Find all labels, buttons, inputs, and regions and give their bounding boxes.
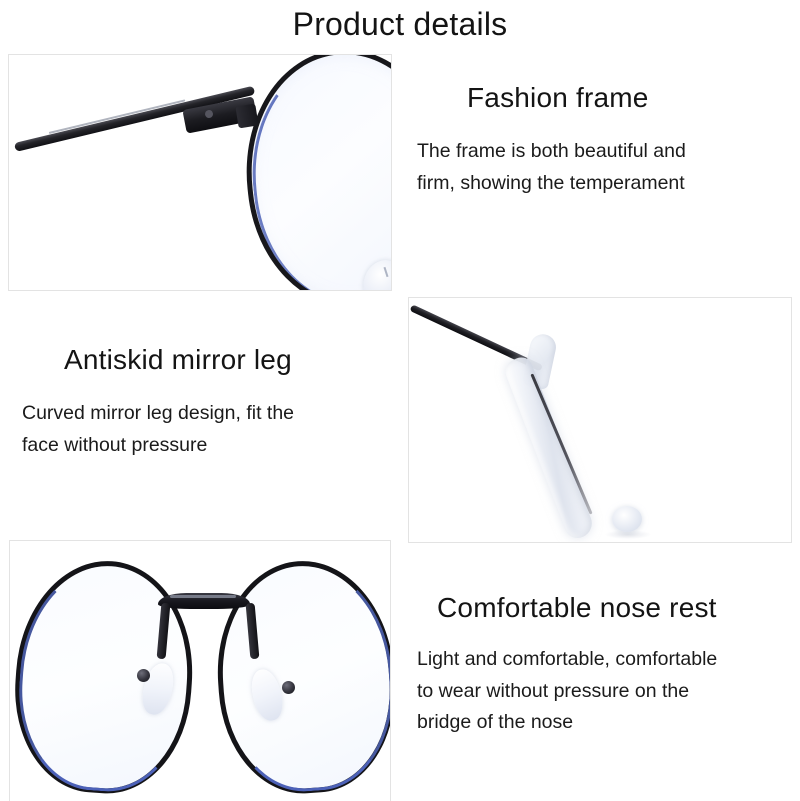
section-comfortable-nose-rest: Comfortable nose rest Light and comforta… [417, 592, 793, 739]
photo-canvas-nose-bridge [10, 541, 390, 801]
temple-highlight [49, 99, 186, 134]
nose-bridge-pads-photo [9, 540, 391, 801]
body-line: The frame is both beautiful and [417, 136, 787, 168]
temple-silicone-tip [502, 353, 596, 542]
glasses-frame-hinge-photo [8, 54, 392, 291]
section-antiskid-mirror-leg: Antiskid mirror leg Curved mirror leg de… [22, 344, 400, 461]
body-line: to wear without pressure on the [417, 676, 793, 708]
page-title: Product details [0, 6, 800, 43]
section-fashion-frame: Fashion frame The frame is both beautifu… [417, 82, 787, 199]
section-body-comfortable-nose-rest: Light and comfortable, comfortable to we… [417, 644, 793, 739]
section-heading-comfortable-nose-rest: Comfortable nose rest [437, 592, 793, 624]
body-line: bridge of the nose [417, 707, 793, 739]
section-body-antiskid-mirror-leg: Curved mirror leg design, fit the face w… [22, 398, 400, 461]
body-line: face without pressure [22, 430, 400, 462]
nose-bridge-highlight [170, 595, 236, 598]
body-line: Light and comfortable, comfortable [417, 644, 793, 676]
nose-pad-screw-left [137, 669, 150, 682]
product-details-page: Product details Fashion frame The frame … [0, 0, 800, 800]
photo-canvas-frame-hinge [9, 55, 391, 290]
section-body-fashion-frame: The frame is both beautiful and firm, sh… [417, 136, 787, 199]
section-heading-antiskid-mirror-leg: Antiskid mirror leg [64, 344, 400, 376]
temple-arm-clear-tip-photo [408, 297, 792, 543]
hinge-barrel [235, 104, 258, 129]
lens-rim [234, 55, 391, 290]
photo-canvas-temple-tip [409, 298, 791, 542]
body-line: firm, showing the temperament [417, 168, 787, 200]
nose-pad-screw-right [282, 681, 295, 694]
body-line: Curved mirror leg design, fit the [22, 398, 400, 430]
temple-tip-end [612, 506, 642, 532]
section-heading-fashion-frame: Fashion frame [467, 82, 787, 114]
